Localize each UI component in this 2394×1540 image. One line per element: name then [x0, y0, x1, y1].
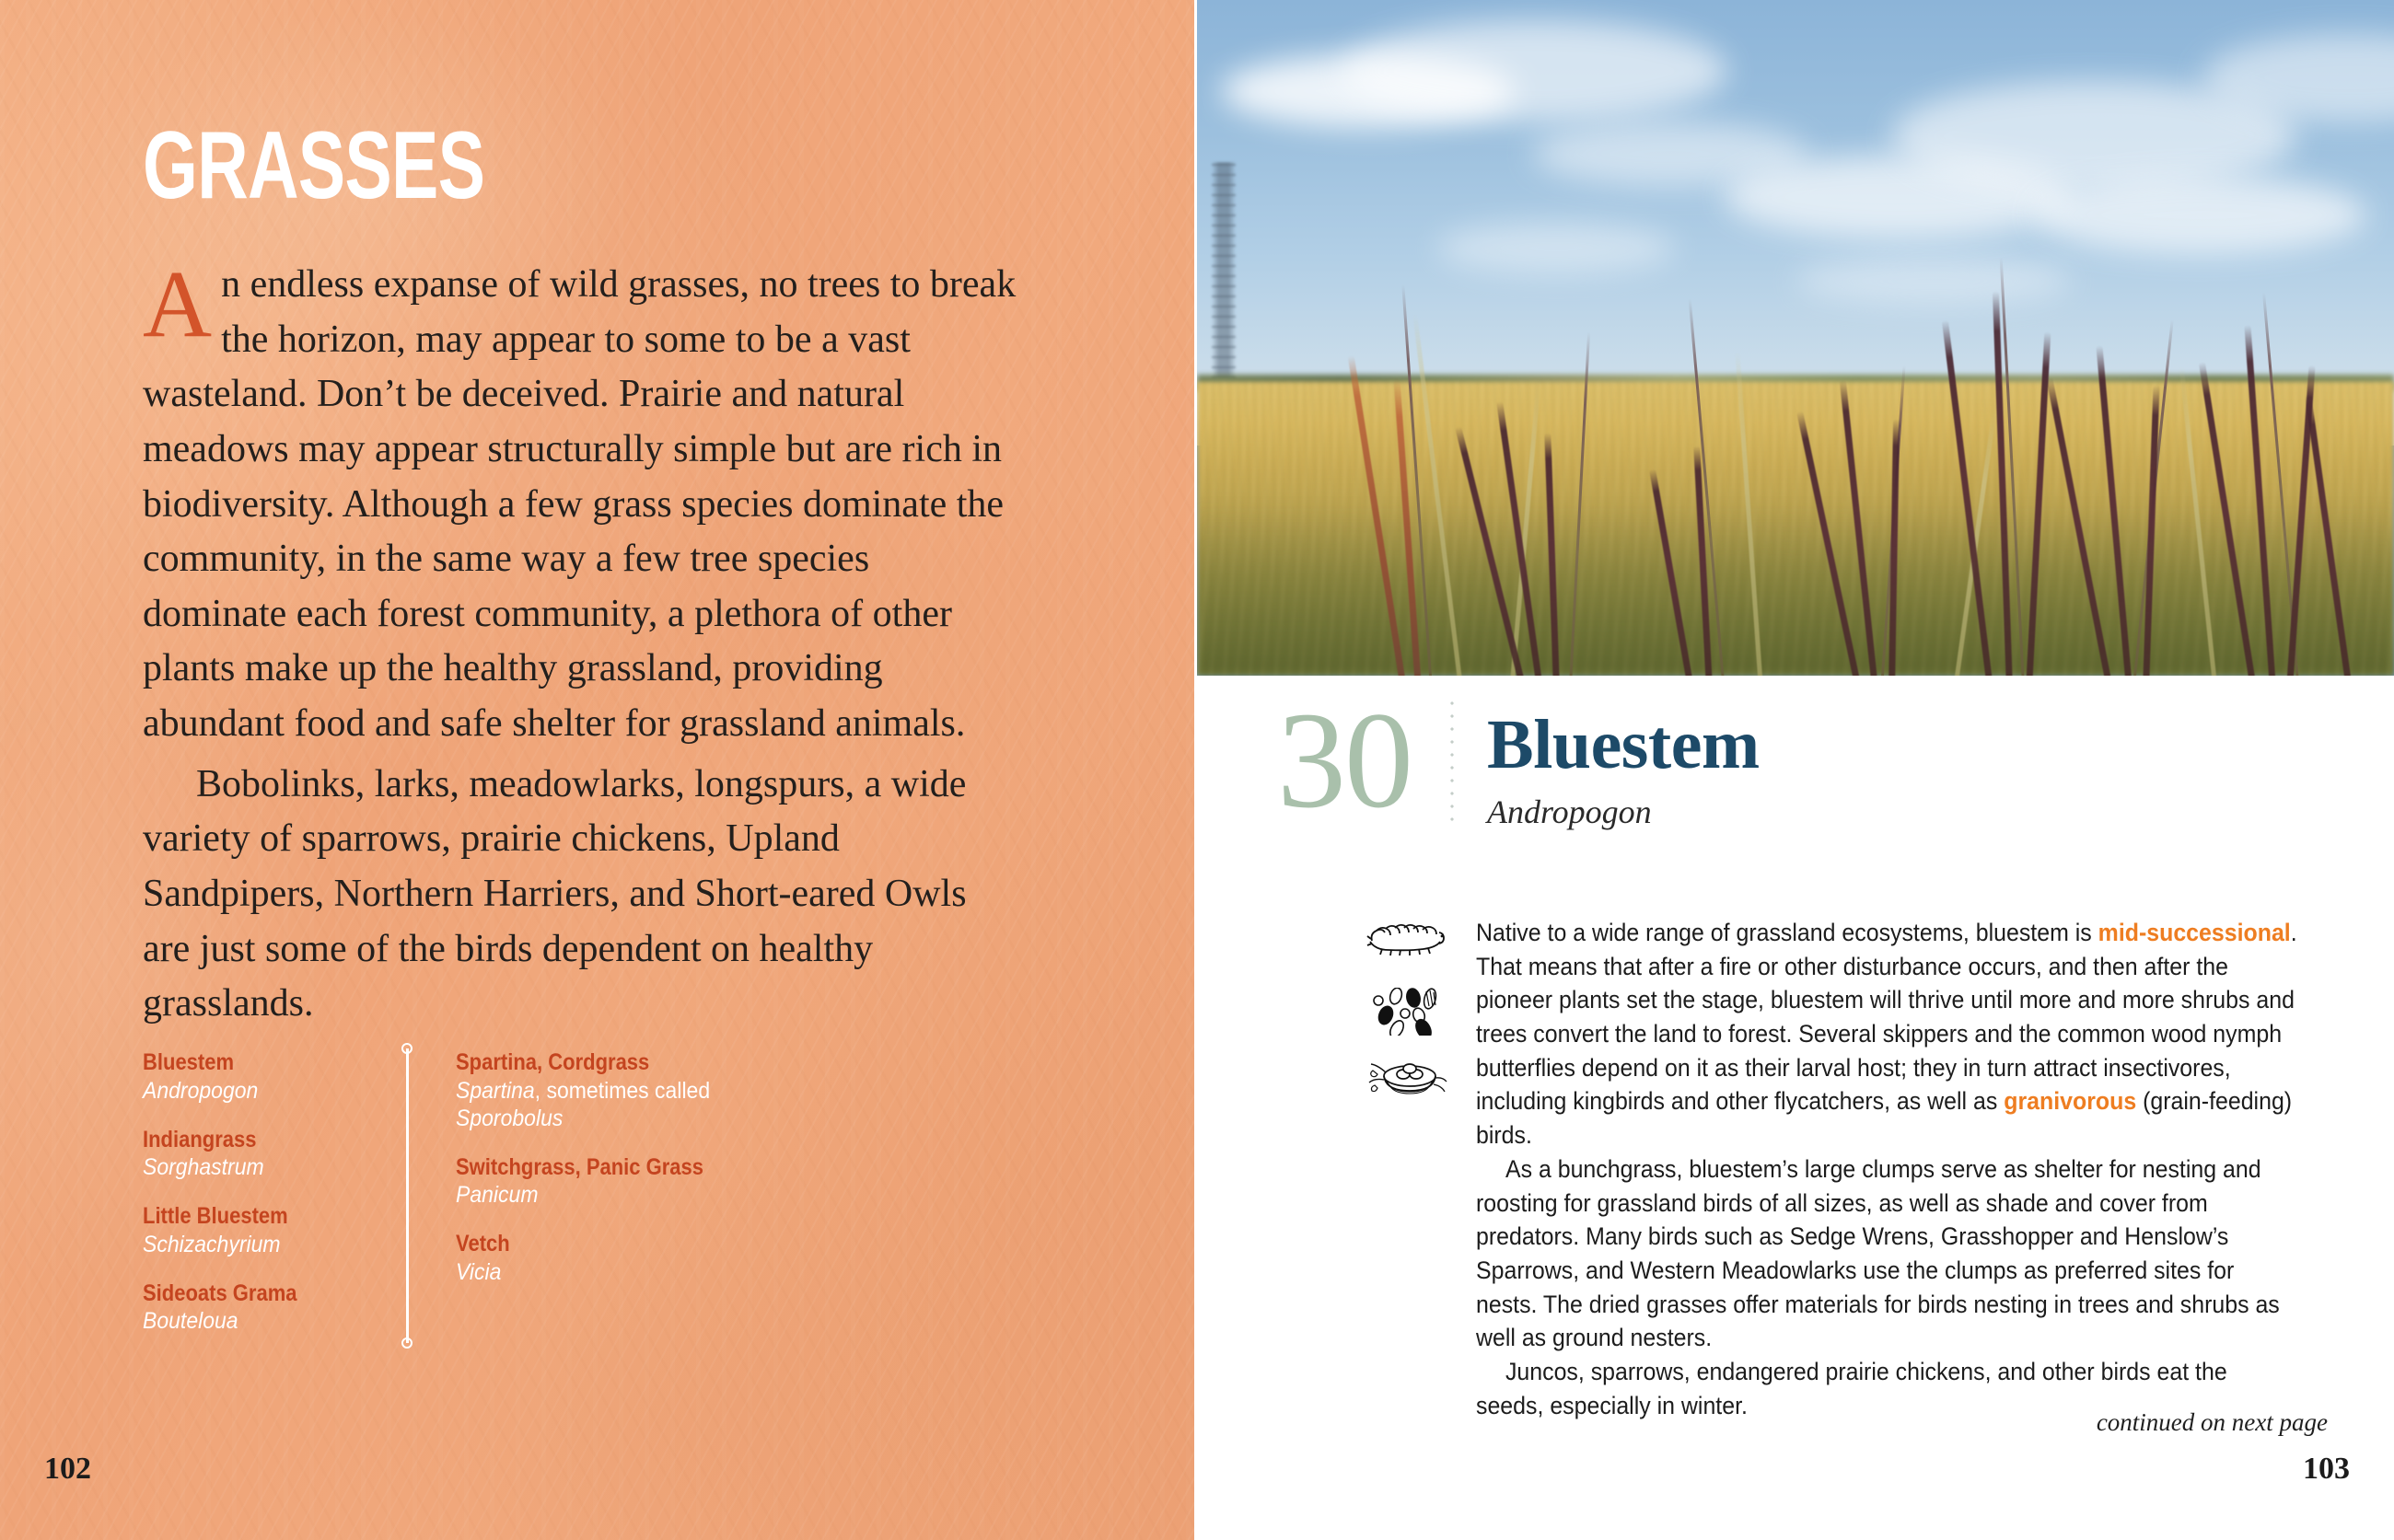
species-latin-name: Andropogon: [143, 1077, 397, 1105]
entry-name: Bluestem: [1487, 710, 1760, 780]
list-item: Little Bluestem Schizachyrium: [143, 1203, 419, 1258]
intro-paragraph-1: An endless expanse of wild grasses, no t…: [143, 214, 1022, 752]
book-spread: GRASSES An endless expanse of wild grass…: [0, 0, 2394, 1540]
glossary-term-granivorous: granivorous: [2004, 1087, 2136, 1115]
page-number-right: 103: [2303, 1452, 2350, 1487]
species-latin-name: Bouteloua: [143, 1307, 397, 1335]
species-common-name: Little Bluestem: [143, 1203, 386, 1231]
prairie-photograph: [1197, 0, 2394, 676]
photo-cloud: [1795, 257, 2072, 305]
species-latin-alt: Sporobolus: [456, 1106, 563, 1131]
species-column-right: Spartina, Cordgrass Spartina, sometimes …: [456, 1049, 824, 1335]
list-item: Indiangrass Sorghastrum: [143, 1127, 419, 1182]
list-item: Bluestem Andropogon: [143, 1049, 419, 1105]
species-latin-name: Vicia: [456, 1258, 795, 1286]
divider-line: [406, 1048, 409, 1343]
list-item: Vetch Vicia: [456, 1231, 824, 1286]
caterpillar-icon: [1366, 920, 1450, 971]
photo-cloud: [1436, 223, 1676, 273]
species-common-name: Switchgrass, Panic Grass: [456, 1154, 780, 1182]
seeds-icon: [1366, 988, 1450, 1039]
species-latin-note: , sometimes called: [535, 1078, 710, 1104]
list-item: Switchgrass, Panic Grass Panicum: [456, 1154, 824, 1210]
right-page: 30 Bluestem Andropogon: [1194, 0, 2394, 1540]
species-list: Bluestem Andropogon Indiangrass Sorghast…: [143, 1049, 1063, 1335]
species-latin-genus: Spartina: [456, 1078, 535, 1104]
species-common-name: Indiangrass: [143, 1127, 386, 1154]
photo-cloud: [1341, 20, 1727, 122]
species-column-left: Bluestem Andropogon Indiangrass Sorghast…: [143, 1049, 419, 1335]
drop-cap: A: [143, 261, 221, 342]
intro-paragraph-2: Bobolinks, larks, meadowlarks, longspurs…: [143, 752, 1022, 1032]
species-latin-name: Spartina, sometimes called Sporobolus: [456, 1077, 795, 1132]
entry-title-group: Bluestem Andropogon: [1454, 695, 1760, 834]
nest-icon: [1366, 1056, 1450, 1107]
entry-latin-name: Andropogon: [1487, 791, 1760, 834]
entry-icon-column: [1366, 916, 1476, 1422]
species-entry-heading: 30 Bluestem Andropogon: [1238, 695, 1760, 834]
page-title: GRASSES: [143, 0, 818, 214]
intro-paragraph-1-text: n endless expanse of wild grasses, no tr…: [143, 263, 1016, 745]
species-common-name: Sideoats Grama: [143, 1280, 386, 1308]
glossary-term-mid-successional: mid-successional: [2098, 919, 2291, 946]
divider-dot-bottom: [401, 1337, 413, 1349]
left-page-content: GRASSES An endless expanse of wild grass…: [143, 0, 1054, 1032]
entry-body-text: Native to a wide range of grassland ecos…: [1476, 916, 2298, 1422]
photo-transmission-tower: [1212, 162, 1236, 378]
species-common-name: Bluestem: [143, 1049, 386, 1077]
species-latin-name: Panicum: [456, 1181, 795, 1209]
list-item: Spartina, Cordgrass Spartina, sometimes …: [456, 1049, 824, 1132]
photo-cloud: [2035, 176, 2366, 254]
list-item: Sideoats Grama Bouteloua: [143, 1280, 419, 1336]
species-common-name: Spartina, Cordgrass: [456, 1049, 780, 1077]
entry-number: 30: [1238, 695, 1450, 826]
page-number-left: 102: [44, 1452, 91, 1487]
species-latin-name: Schizachyrium: [143, 1231, 397, 1258]
body-text-1b: . That means that after a fire or other …: [1476, 919, 2297, 1115]
species-common-name: Vetch: [456, 1231, 780, 1258]
continued-note: continued on next page: [2097, 1408, 2328, 1437]
species-list-divider: [401, 1043, 413, 1349]
body-paragraph-1: Native to a wide range of grassland ecos…: [1476, 916, 2298, 1152]
species-entry-body: Native to a wide range of grassland ecos…: [1366, 916, 2351, 1422]
body-paragraph-2: As a bunchgrass, bluestem’s large clumps…: [1476, 1152, 2298, 1355]
species-latin-name: Sorghastrum: [143, 1153, 397, 1181]
body-text-1a: Native to a wide range of grassland ecos…: [1476, 919, 2098, 946]
left-page: GRASSES An endless expanse of wild grass…: [0, 0, 1194, 1540]
